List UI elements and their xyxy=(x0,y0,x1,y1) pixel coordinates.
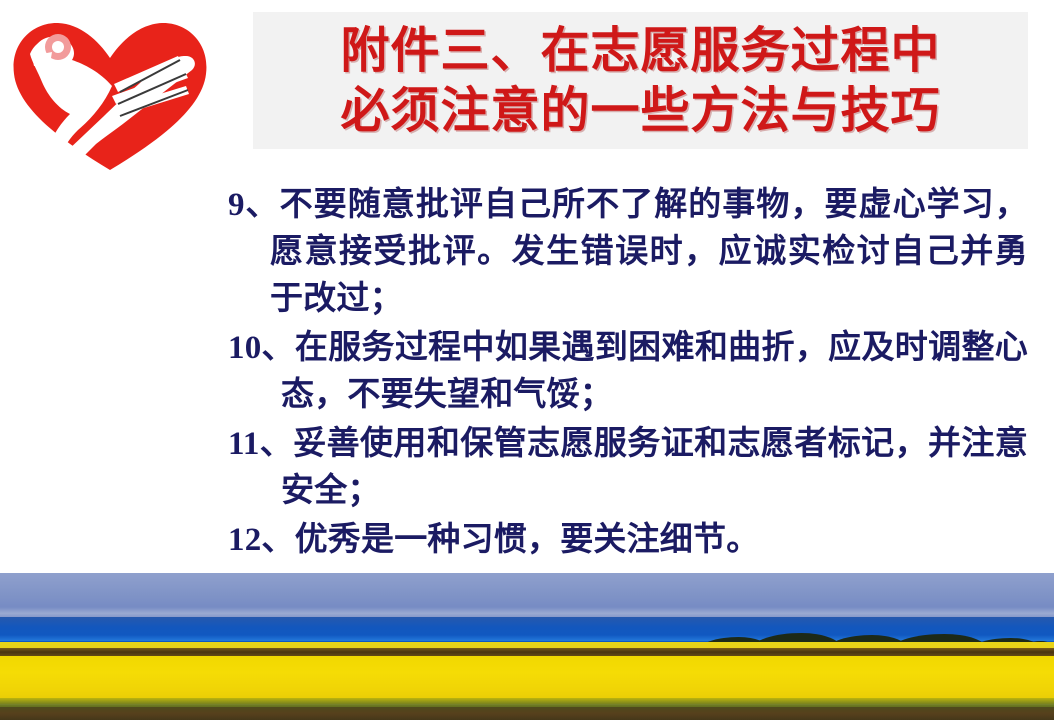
title-box: 附件三、在志愿服务过程中 必须注意的一些方法与技巧 xyxy=(253,12,1028,149)
list-item-9: 9、不要随意批评自己所不了解的事物，要虚心学习，愿意接受批评。发生错误时，应诚实… xyxy=(228,182,1028,323)
title-line-2: 必须注意的一些方法与技巧 xyxy=(340,81,940,141)
photo-foreground-ground xyxy=(0,707,1054,720)
logo-svg xyxy=(8,12,213,174)
content-list: 9、不要随意批评自己所不了解的事物，要虚心学习，愿意接受批评。发生错误时，应诚实… xyxy=(228,182,1028,566)
list-item-10: 10、在服务过程中如果遇到困难和曲折，应及时调整心态，不要失望和气馁； xyxy=(228,325,1028,419)
list-item-12: 12、优秀是一种习惯，要关注细节。 xyxy=(228,517,1028,564)
photo-rapeseed-field xyxy=(0,656,1054,704)
list-item-11: 11、妥善使用和保管志愿服务证和志愿者标记，并注意安全； xyxy=(228,421,1028,515)
volunteer-service-heart-dove-hand-logo xyxy=(8,12,213,174)
title-line-1: 附件三、在志愿服务过程中 xyxy=(340,21,940,81)
slide-canvas: 附件三、在志愿服务过程中 必须注意的一些方法与技巧 9、不要随意批评自己所不了解… xyxy=(0,0,1054,720)
rapeseed-field-and-lake-photo xyxy=(0,573,1054,720)
